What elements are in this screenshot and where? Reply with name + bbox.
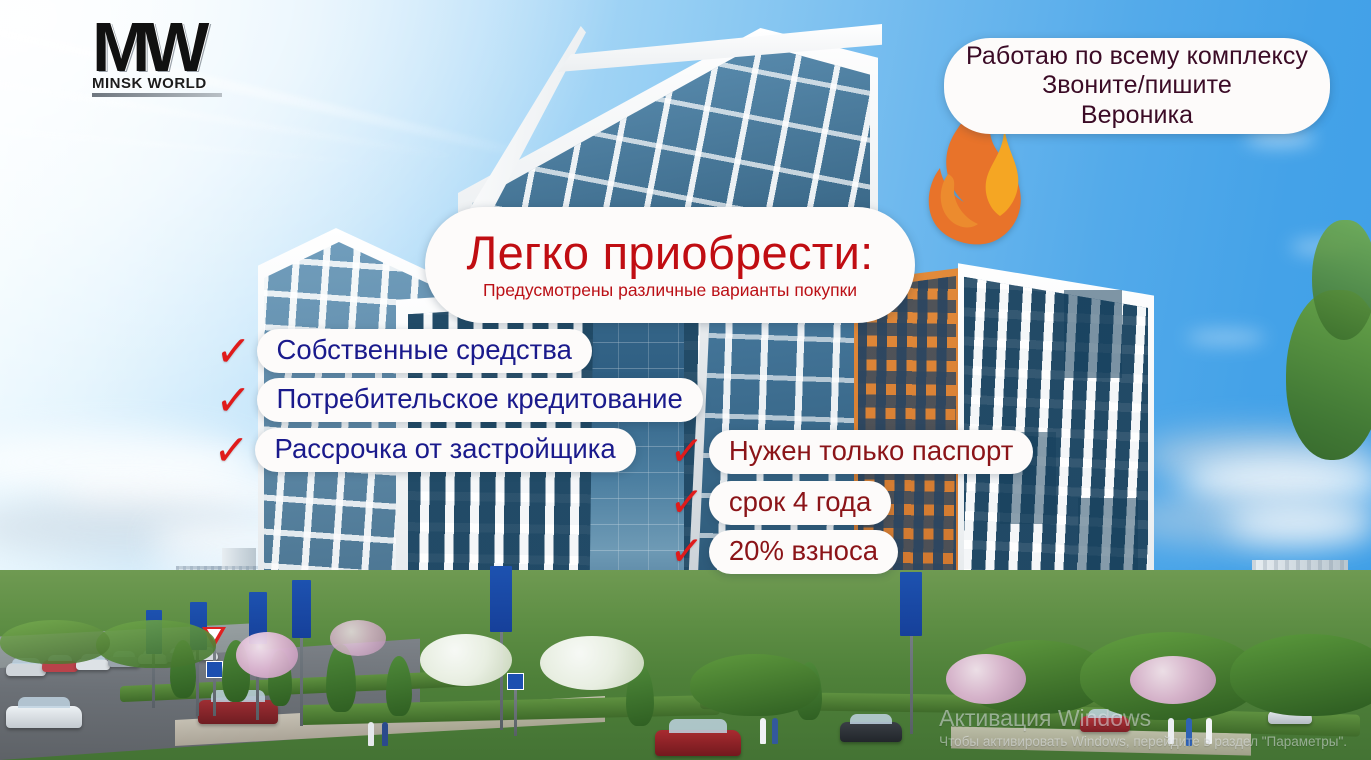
pedestrian [382,722,388,746]
crosswalk-sign [507,673,524,690]
check-icon: ✓ [668,528,704,576]
payment-option-2: ✓ Потребительское кредитование [214,377,703,423]
payment-option-pill: Потребительское кредитование [257,378,703,422]
street-banner [900,572,922,636]
car-on-road [655,730,741,756]
installment-term-pill: срок 4 года [709,481,891,525]
blossom-tree [1130,656,1216,704]
check-icon: ✓ [214,375,252,425]
check-icon: ✓ [214,326,252,376]
contact-line-2: Звоните/пишите [1042,71,1232,101]
crosswalk-sign [206,661,223,678]
car-on-road [1080,716,1130,732]
street-banner [490,566,512,632]
cloud [1186,330,1266,345]
street-banner [292,580,311,638]
sign-post [213,644,216,716]
pedestrian [1168,718,1174,744]
payment-option-3: ✓ Рассрочка от застройщика [212,427,636,473]
tree [96,620,216,668]
headline-title: Легко приобрести: [466,229,873,276]
payment-option-label: Потребительское кредитование [277,383,683,414]
payment-option-pill: Рассрочка от застройщика [255,428,636,472]
installment-term-label: 20% взноса [729,535,878,566]
installment-term-pill: Нужен только паспорт [709,430,1033,474]
pedestrian [1186,718,1192,746]
building-recessed-bay [1064,290,1122,378]
car-on-road [840,722,902,742]
tree [1312,220,1371,340]
promo-image: MW MINSK WORLD Работаю по всему комплекс… [0,0,1371,760]
check-icon: ✓ [668,479,704,527]
payment-option-label: Рассрочка от застройщика [275,433,616,464]
tree [1230,634,1371,716]
blossom-tree [330,620,386,656]
logo-monogram: MW [92,16,222,79]
tree [690,654,820,716]
pedestrian [368,722,374,746]
logo-underline [92,93,222,97]
car-on-road [6,706,82,728]
headline-subtitle: Предусмотрены различные варианты покупки [483,280,857,301]
car-on-road [198,700,278,724]
cloud [1225,506,1371,542]
contact-line-1: Работаю по всему комплексу [966,42,1308,72]
contact-bubble: Работаю по всему комплексу Звоните/пишит… [944,38,1330,134]
minsk-world-logo: MW MINSK WORLD [92,16,222,112]
tree [0,620,110,664]
pedestrian [772,718,778,744]
blossom-tree [946,654,1026,704]
payment-option-label: Собственные средства [277,334,572,365]
pedestrian [760,718,766,744]
blossom-tree [540,636,644,690]
installment-term-label: срок 4 года [729,486,871,517]
installment-term-label: Нужен только паспорт [729,435,1013,466]
parked-car [6,663,46,676]
blossom-tree [420,634,512,686]
installment-term-3: ✓ 20% взноса [668,530,898,574]
installment-term-pill: 20% взноса [709,530,898,574]
logo-wordmark: MINSK WORLD [92,75,222,92]
check-icon: ✓ [212,425,250,475]
installment-term-1: ✓ Нужен только паспорт [668,430,1033,474]
installment-term-2: ✓ срок 4 года [668,481,891,525]
headline-bubble: Легко приобрести: Предусмотрены различны… [425,207,915,323]
pedestrian [1206,718,1212,744]
payment-option-1: ✓ Собственные средства [214,328,592,374]
contact-line-3: Вероника [1081,101,1193,131]
payment-option-pill: Собственные средства [257,329,592,373]
blossom-tree [236,632,298,678]
check-icon: ✓ [668,428,704,476]
